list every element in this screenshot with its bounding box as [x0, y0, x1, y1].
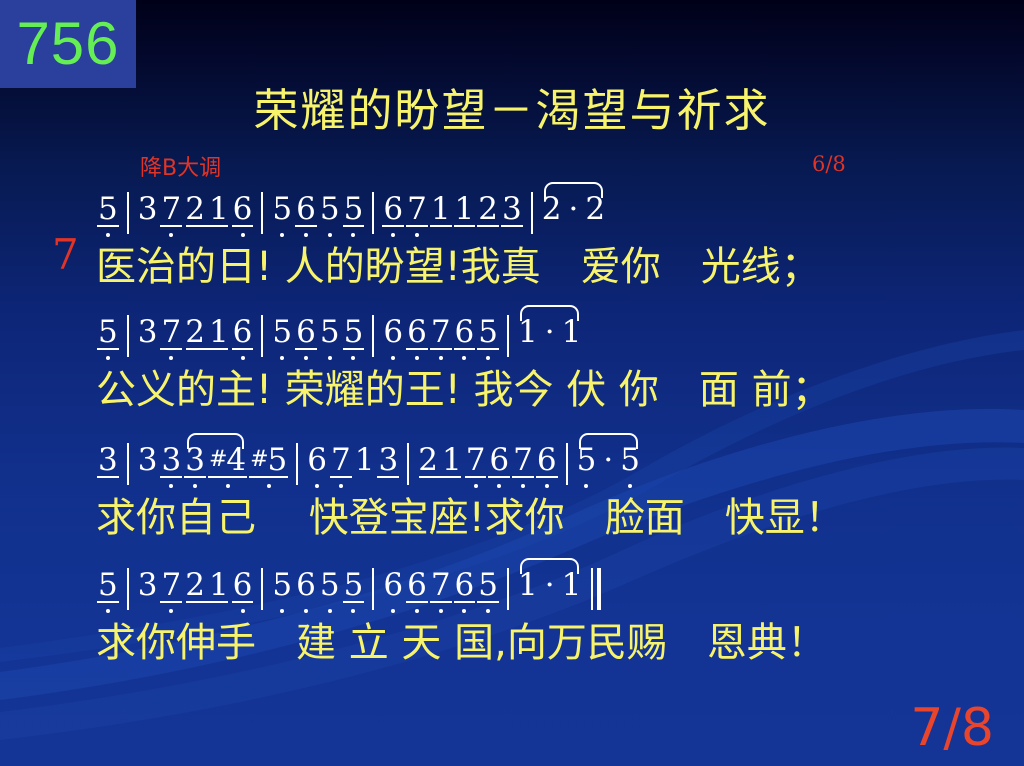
- bar-line: [407, 443, 409, 485]
- note-glyph: 6: [296, 315, 316, 349]
- note-glyph: 7: [431, 315, 451, 349]
- note-5: 5: [476, 315, 500, 349]
- note-1: 1: [207, 192, 231, 226]
- note-glyph: 3: [138, 315, 158, 349]
- note-5: 5: [476, 568, 500, 602]
- note-4: #4: [207, 443, 248, 477]
- note-glyph: 6: [407, 315, 427, 349]
- note-2: 2: [476, 192, 500, 226]
- note-7: 7: [511, 443, 535, 477]
- note-glyph: 5: [272, 568, 292, 602]
- note-2: 2: [583, 192, 607, 226]
- note-5: 5: [318, 315, 342, 349]
- note-5: 5: [270, 568, 294, 602]
- note-1: 1: [207, 568, 231, 602]
- lyrics-line-4: 求你伸手 建 立 天 国,向万民赐 恩典！: [96, 618, 827, 668]
- note-glyph: 6: [489, 443, 509, 477]
- note-7: 7: [405, 192, 429, 226]
- music-system-4: 5372165655667651·1 求你伸手 建 立 天 国,向万民赐 恩典！: [0, 568, 1024, 686]
- note-6: 6: [381, 568, 405, 602]
- note-glyph: 5: [98, 192, 118, 226]
- notation-row-1: 53721656556711232·2: [96, 192, 607, 248]
- note-6: 6: [294, 315, 318, 349]
- verse-number: 7: [52, 234, 79, 276]
- note-5: 5: [270, 192, 294, 226]
- note-glyph: 1: [518, 568, 538, 602]
- tie-slur-group: 1·1: [516, 315, 583, 349]
- music-system-2: 5372165655667651·1 公义的主! 荣耀的王! 我今 伏 你 面 …: [0, 315, 1024, 433]
- note-6: 6: [405, 315, 429, 349]
- note-5: 5: [318, 192, 342, 226]
- note-7: 7: [159, 568, 183, 602]
- note-3: 3: [159, 443, 183, 477]
- note-glyph: 2: [185, 568, 205, 602]
- note-2: 2: [540, 192, 564, 226]
- note-glyph: 1: [518, 315, 538, 349]
- page-title: 荣耀的盼望－渴望与祈求: [0, 74, 1024, 139]
- note-7: 7: [429, 568, 453, 602]
- note-glyph: 6: [455, 568, 475, 602]
- note-5: 5: [318, 568, 342, 602]
- beam-group: 21: [416, 443, 463, 477]
- note-6: 6: [231, 568, 255, 602]
- lyrics-line-2: 公义的主! 荣耀的王! 我今 伏 你 面 前；: [96, 365, 832, 415]
- bar-line: [261, 568, 263, 610]
- tie-slur-group: 5·5: [575, 443, 642, 477]
- sharp-accidental-icon: #: [250, 447, 268, 472]
- note-1: 1: [429, 192, 453, 226]
- note-6: 6: [294, 192, 318, 226]
- note-glyph: 1: [562, 568, 582, 602]
- notation-row-4: 5372165655667651·1: [96, 568, 601, 624]
- note-5: 5: [342, 315, 366, 349]
- note-6: 6: [487, 443, 511, 477]
- note-glyph: 1: [442, 443, 462, 477]
- note-glyph: 3: [138, 568, 158, 602]
- note-glyph: 2: [542, 192, 562, 226]
- bar-line: [127, 315, 129, 357]
- notation-row-2: 5372165655667651·1: [96, 315, 583, 371]
- page-number: 7/8: [910, 702, 994, 754]
- note-6: 6: [231, 192, 255, 226]
- note-1: 1: [353, 443, 377, 477]
- note-glyph: 7: [161, 568, 181, 602]
- note-glyph: 4: [226, 443, 246, 477]
- bar-line: [261, 315, 263, 357]
- note-glyph: 6: [233, 315, 253, 349]
- time-signature: 6/8: [812, 152, 846, 176]
- note-glyph: 1: [562, 315, 582, 349]
- note-glyph: 1: [355, 443, 375, 477]
- note-glyph: 6: [455, 315, 475, 349]
- note-5: 5: [270, 315, 294, 349]
- note-7: 7: [159, 315, 183, 349]
- note-glyph: 5: [320, 315, 340, 349]
- note-5: 5: [96, 568, 120, 602]
- note-glyph: 2: [478, 192, 498, 226]
- note-6: 6: [305, 443, 329, 477]
- bar-line: [372, 315, 374, 357]
- note-glyph: 6: [537, 443, 557, 477]
- note-6: 6: [381, 315, 405, 349]
- note-2: 2: [416, 443, 440, 477]
- note-1: 1: [516, 568, 540, 602]
- note-glyph: 7: [407, 192, 427, 226]
- note-glyph: 6: [383, 315, 403, 349]
- note-glyph: 3: [502, 192, 522, 226]
- note-7: 7: [429, 315, 453, 349]
- note-6: 6: [231, 315, 255, 349]
- note-glyph: 6: [383, 568, 403, 602]
- final-double-bar-line: [591, 568, 601, 610]
- note-5: 5: [618, 443, 642, 477]
- note-glyph: 2: [585, 192, 605, 226]
- note-glyph: 5: [320, 568, 340, 602]
- note-glyph: 6: [233, 192, 253, 226]
- note-glyph: 1: [209, 568, 229, 602]
- beam-group: 21: [183, 568, 230, 602]
- bar-line: [531, 192, 533, 234]
- note-glyph: 3: [138, 192, 158, 226]
- note-glyph: 5: [577, 443, 597, 477]
- note-glyph: 5: [272, 315, 292, 349]
- note-6: 6: [381, 192, 405, 226]
- note-7: 7: [464, 443, 488, 477]
- lyrics-line-3: 求你自己 快登宝座!求你 脸面 快显！: [96, 493, 845, 543]
- tie-slur-group: 3#4: [183, 443, 248, 477]
- music-system-1: 7 53721656556711232·2 医治的日! 人的盼望!我真 爱你 光…: [0, 192, 1024, 310]
- lyrics-line-1: 医治的日! 人的盼望!我真 爱你 光线；: [96, 242, 821, 292]
- note-glyph: 6: [296, 192, 316, 226]
- note-glyph: 3: [161, 443, 181, 477]
- key-signature: 降B大调: [140, 150, 221, 182]
- note-5: 5: [96, 192, 120, 226]
- note-1: 1: [560, 568, 584, 602]
- note-3: 3: [136, 315, 160, 349]
- note-glyph: 5: [344, 568, 364, 602]
- note-glyph: 6: [296, 568, 316, 602]
- note-2: 2: [183, 315, 207, 349]
- note-1: 1: [560, 315, 584, 349]
- note-3: 3: [183, 443, 207, 477]
- bar-line: [261, 192, 263, 234]
- tie-slur-group: 1·1: [516, 568, 583, 602]
- hymn-slide: 756 荣耀的盼望－渴望与祈求 降B大调 6/8 7 5372165655671…: [0, 0, 1024, 766]
- note-glyph: 7: [331, 443, 351, 477]
- note-3: 3: [500, 192, 524, 226]
- note-glyph: 5: [268, 443, 288, 477]
- note-glyph: 6: [383, 192, 403, 226]
- bar-line: [372, 568, 374, 610]
- bar-line: [566, 443, 568, 485]
- note-5: 5: [96, 315, 120, 349]
- hymn-number: 756: [16, 14, 119, 74]
- sharp-accidental-icon: #: [209, 447, 227, 472]
- note-glyph: 3: [98, 443, 118, 477]
- note-glyph: 1: [209, 192, 229, 226]
- note-glyph: 5: [98, 568, 118, 602]
- note-glyph: 5: [478, 568, 498, 602]
- note-glyph: 5: [320, 192, 340, 226]
- note-glyph: 2: [185, 192, 205, 226]
- note-glyph: 1: [209, 315, 229, 349]
- note-glyph: 5: [478, 315, 498, 349]
- note-glyph: 3: [185, 443, 205, 477]
- note-5: 5: [575, 443, 599, 477]
- note-3: 3: [376, 443, 400, 477]
- bar-line: [127, 443, 129, 485]
- note-6: 6: [294, 568, 318, 602]
- note-1: 1: [440, 443, 464, 477]
- note-glyph: 5: [344, 192, 364, 226]
- note-6: 6: [453, 315, 477, 349]
- bar-line: [296, 443, 298, 485]
- note-1: 1: [207, 315, 231, 349]
- music-system-3: 3333#4#567132176765·5 求你自己 快登宝座!求你 脸面 快显…: [0, 443, 1024, 561]
- note-glyph: 1: [431, 192, 451, 226]
- note-5: 5: [342, 568, 366, 602]
- note-7: 7: [329, 443, 353, 477]
- beam-group: 21: [183, 315, 230, 349]
- note-glyph: 7: [431, 568, 451, 602]
- note-6: 6: [535, 443, 559, 477]
- note-glyph: 7: [161, 315, 181, 349]
- note-7: 7: [159, 192, 183, 226]
- note-5: #5: [248, 443, 289, 477]
- note-glyph: 6: [407, 568, 427, 602]
- notation-row-3: 3333#4#567132176765·5: [96, 443, 642, 499]
- note-glyph: 5: [98, 315, 118, 349]
- note-3: 3: [136, 192, 160, 226]
- note-3: 3: [96, 443, 120, 477]
- note-5: 5: [342, 192, 366, 226]
- note-glyph: 5: [272, 192, 292, 226]
- note-glyph: 7: [466, 443, 486, 477]
- bar-line: [372, 192, 374, 234]
- note-3: 3: [136, 443, 160, 477]
- note-3: 3: [136, 568, 160, 602]
- bar-line: [507, 315, 509, 357]
- note-1: 1: [516, 315, 540, 349]
- note-glyph: 3: [138, 443, 158, 477]
- note-glyph: 7: [513, 443, 533, 477]
- note-glyph: 7: [161, 192, 181, 226]
- note-6: 6: [453, 568, 477, 602]
- note-6: 6: [405, 568, 429, 602]
- bar-line: [507, 568, 509, 610]
- note-glyph: 6: [307, 443, 327, 477]
- note-glyph: 2: [418, 443, 438, 477]
- note-glyph: 5: [344, 315, 364, 349]
- note-glyph: 3: [378, 443, 398, 477]
- note-2: 2: [183, 192, 207, 226]
- note-glyph: 1: [455, 192, 475, 226]
- note-glyph: 6: [233, 568, 253, 602]
- beam-group: 21: [183, 192, 230, 226]
- note-glyph: 5: [620, 443, 640, 477]
- tie-slur-group: 2·2: [540, 192, 607, 226]
- bar-line: [127, 568, 129, 610]
- bar-line: [127, 192, 129, 234]
- note-2: 2: [183, 568, 207, 602]
- note-glyph: 2: [185, 315, 205, 349]
- note-1: 1: [453, 192, 477, 226]
